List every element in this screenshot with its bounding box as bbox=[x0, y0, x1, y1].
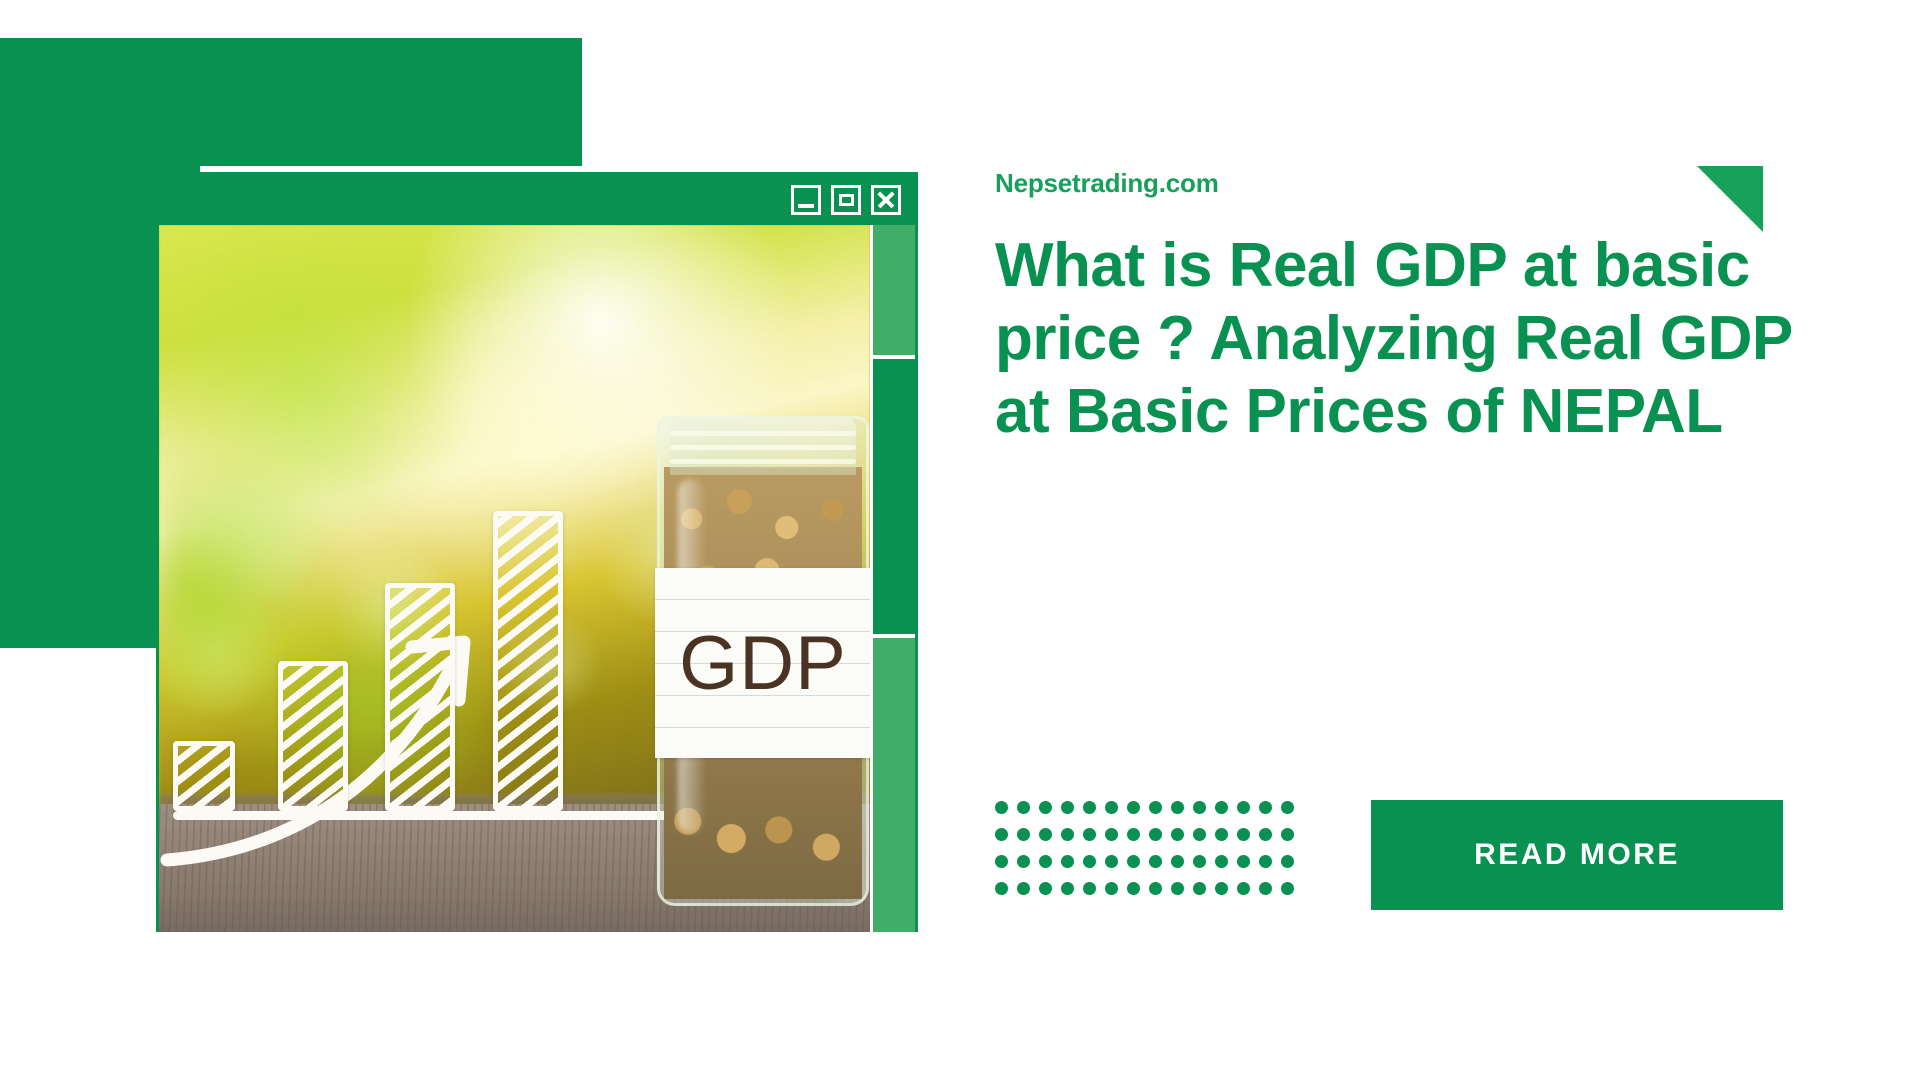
dot bbox=[1149, 882, 1162, 895]
scrollbar-segment-middle[interactable] bbox=[873, 359, 915, 634]
bar-2 bbox=[278, 661, 348, 811]
dot bbox=[1171, 882, 1184, 895]
dot bbox=[1171, 828, 1184, 841]
dot bbox=[1017, 855, 1030, 868]
dot bbox=[995, 882, 1008, 895]
dot bbox=[1259, 828, 1272, 841]
dot bbox=[1127, 882, 1140, 895]
bar-4 bbox=[493, 511, 563, 811]
dot bbox=[1127, 855, 1140, 868]
dot bbox=[1171, 801, 1184, 814]
dot bbox=[1237, 855, 1250, 868]
scrollbar-segment-bottom[interactable] bbox=[873, 638, 915, 932]
scrollbar-segment-top[interactable] bbox=[873, 225, 915, 355]
window-titlebar bbox=[159, 175, 915, 225]
dot bbox=[1017, 882, 1030, 895]
dot bbox=[1083, 801, 1096, 814]
dot bbox=[1039, 828, 1052, 841]
dot bbox=[1149, 801, 1162, 814]
dot bbox=[1259, 882, 1272, 895]
dot bbox=[995, 828, 1008, 841]
dot bbox=[1083, 882, 1096, 895]
dot bbox=[1193, 855, 1206, 868]
dot bbox=[1281, 828, 1294, 841]
dot bbox=[1281, 855, 1294, 868]
dot bbox=[1061, 801, 1074, 814]
window-body: GDP bbox=[159, 225, 915, 932]
dot bbox=[1215, 855, 1228, 868]
dot bbox=[1193, 882, 1206, 895]
poster-canvas: GDP Nepsetrading.com What is Real GDP at… bbox=[0, 0, 1920, 1080]
dot bbox=[1061, 828, 1074, 841]
article-text-column: Nepsetrading.com What is Real GDP at bas… bbox=[995, 168, 1845, 448]
dot bbox=[1039, 855, 1052, 868]
dot bbox=[1171, 855, 1184, 868]
bar-3 bbox=[385, 583, 455, 811]
dot bbox=[1061, 882, 1074, 895]
dot bbox=[1193, 801, 1206, 814]
dot bbox=[1105, 801, 1118, 814]
dot bbox=[1105, 828, 1118, 841]
dot bbox=[1017, 801, 1030, 814]
gdp-coin-jar: GDP bbox=[657, 416, 869, 906]
dot bbox=[995, 801, 1008, 814]
dot bbox=[1281, 882, 1294, 895]
close-button[interactable] bbox=[871, 185, 901, 215]
dot-grid-decoration bbox=[995, 801, 1303, 909]
dot bbox=[1061, 855, 1074, 868]
jar-label-text: GDP bbox=[679, 620, 847, 707]
jar-thread-3 bbox=[670, 459, 856, 464]
dot bbox=[1127, 801, 1140, 814]
jar-thread-1 bbox=[670, 431, 856, 436]
dot bbox=[1039, 801, 1052, 814]
paper-bar-chart bbox=[173, 481, 683, 811]
mock-window: GDP bbox=[156, 172, 918, 932]
dot bbox=[1149, 855, 1162, 868]
jar-thread-2 bbox=[670, 445, 856, 450]
dot bbox=[1127, 828, 1140, 841]
dot bbox=[1105, 882, 1118, 895]
dot bbox=[1193, 828, 1206, 841]
dot bbox=[1237, 801, 1250, 814]
site-brand-name: Nepsetrading.com bbox=[995, 168, 1845, 199]
minimize-button[interactable] bbox=[791, 185, 821, 215]
dot bbox=[1281, 801, 1294, 814]
dot bbox=[1259, 855, 1272, 868]
dot bbox=[1215, 882, 1228, 895]
dot bbox=[1149, 828, 1162, 841]
dot bbox=[1083, 828, 1096, 841]
bar-chart-baseline bbox=[173, 811, 683, 820]
read-more-button[interactable]: READ MORE bbox=[1371, 800, 1783, 910]
dot bbox=[1105, 855, 1118, 868]
close-icon bbox=[876, 190, 896, 210]
dot bbox=[1083, 855, 1096, 868]
page-title: What is Real GDP at basic price ? Analyz… bbox=[995, 229, 1835, 448]
bar-1 bbox=[173, 741, 235, 811]
window-scrollbar[interactable] bbox=[870, 225, 915, 932]
dot bbox=[1237, 882, 1250, 895]
dot bbox=[1259, 801, 1272, 814]
minimize-icon bbox=[798, 204, 814, 208]
dot bbox=[1215, 801, 1228, 814]
dot bbox=[1215, 828, 1228, 841]
maximize-button[interactable] bbox=[831, 185, 861, 215]
footer-row: READ MORE bbox=[995, 800, 1855, 910]
dot bbox=[1237, 828, 1250, 841]
dot bbox=[1039, 882, 1052, 895]
jar-label: GDP bbox=[655, 568, 870, 758]
dot bbox=[995, 855, 1008, 868]
gdp-photo: GDP bbox=[159, 225, 870, 932]
dot bbox=[1017, 828, 1030, 841]
maximize-icon bbox=[839, 194, 854, 206]
